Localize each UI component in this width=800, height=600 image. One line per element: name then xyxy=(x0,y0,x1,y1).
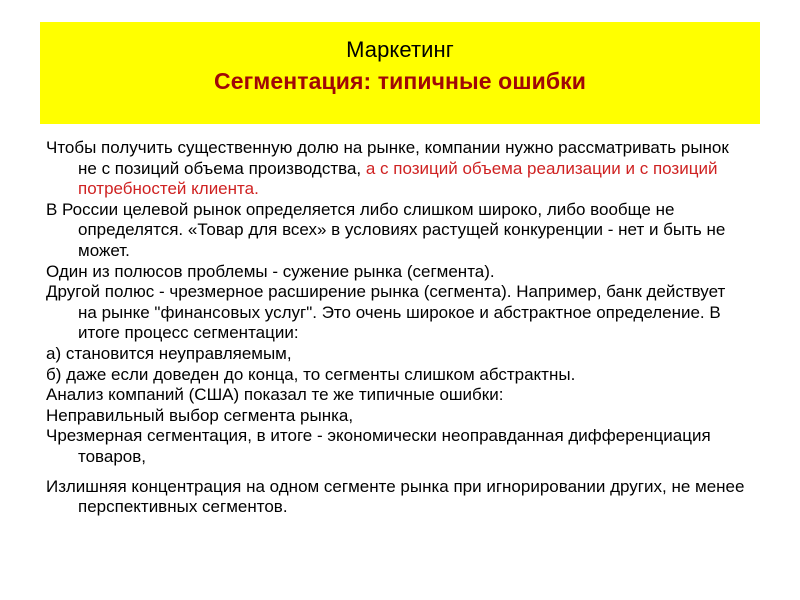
slide-canvas: Маркетинг Сегментация: типичные ошибки Ч… xyxy=(0,0,800,600)
error-item-3: Излишняя концентрация на одном сегменте … xyxy=(46,477,746,518)
page-subtitle: Сегментация: типичные ошибки xyxy=(40,66,760,96)
body-content: Чтобы получить существенную долю на рынк… xyxy=(46,138,746,518)
error-item-2: Чрезмерная сегментация, в итоге - эконом… xyxy=(46,426,746,467)
error-item-1: Неправильный выбор сегмента рынка, xyxy=(46,406,746,427)
list-item-a: а) становится неуправляемым, xyxy=(46,344,746,365)
paragraph-usa-analysis: Анализ компаний (США) показал те же типи… xyxy=(46,385,746,406)
paragraph-1: Чтобы получить существенную долю на рынк… xyxy=(46,138,746,200)
paragraph-4: Другой полюс - чрезмерное расширение рын… xyxy=(46,282,746,344)
page-title: Маркетинг xyxy=(40,36,760,64)
paragraph-2: В России целевой рынок определяется либо… xyxy=(46,200,746,262)
paragraph-3: Один из полюсов проблемы - сужение рынка… xyxy=(46,262,746,283)
title-banner: Маркетинг Сегментация: типичные ошибки xyxy=(40,22,760,124)
list-item-b: б) даже если доведен до конца, то сегмен… xyxy=(46,365,746,386)
